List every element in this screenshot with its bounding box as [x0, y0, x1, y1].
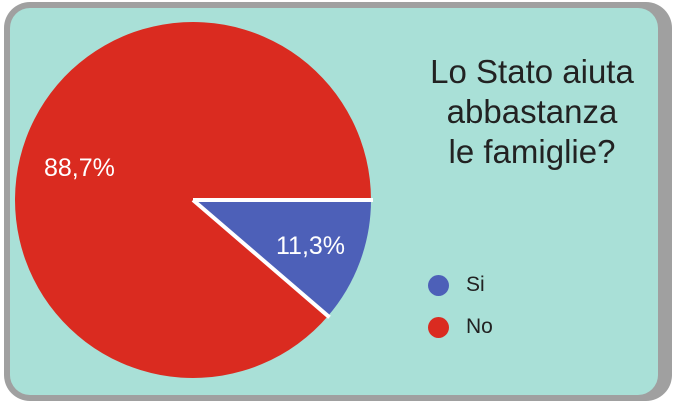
chart-title: Lo Stato aiuta abbastanza le famiglie? [390, 52, 658, 172]
legend-item-si[interactable]: Si [428, 264, 493, 306]
chart-title-line-3: le famiglie? [390, 132, 658, 172]
chart-title-line-2: abbastanza [390, 92, 658, 132]
screenshot-root: 88,7% 11,3% Lo Stato aiuta abbastanza le… [0, 0, 678, 405]
chart-title-line-1: Lo Stato aiuta [390, 52, 658, 92]
legend-label-si: Si [466, 273, 485, 297]
legend-swatch-si-icon [428, 275, 449, 296]
legend-label-no: No [466, 315, 493, 339]
pie-label-si: 11,3% [276, 232, 345, 261]
legend-swatch-no-icon [428, 317, 449, 338]
chart-panel: 88,7% 11,3% Lo Stato aiuta abbastanza le… [10, 8, 658, 395]
pie-label-no: 88,7% [44, 154, 115, 183]
chart-legend: Si No [428, 264, 493, 348]
legend-item-no[interactable]: No [428, 306, 493, 348]
